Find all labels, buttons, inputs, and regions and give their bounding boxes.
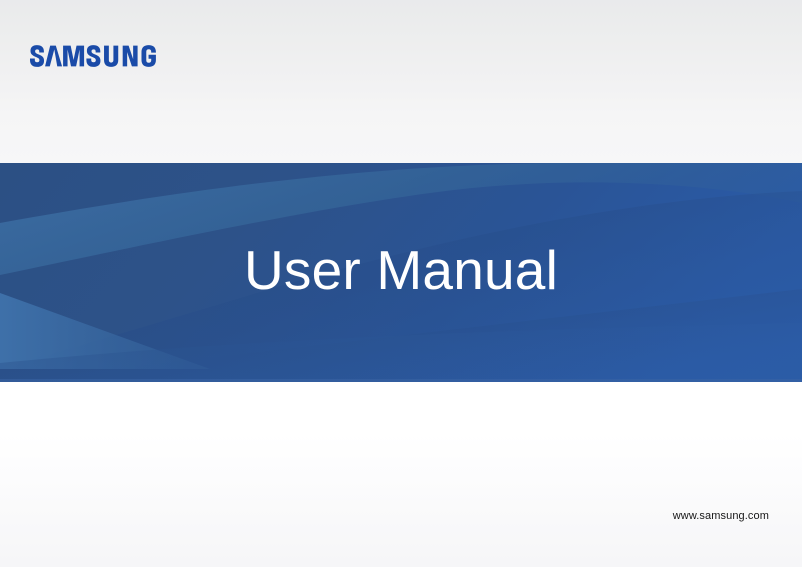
hero-banner: User Manual xyxy=(0,163,802,382)
footer-area xyxy=(0,382,802,567)
samsung-logo xyxy=(30,42,172,70)
header-band xyxy=(0,0,802,163)
page-title: User Manual xyxy=(0,163,802,382)
user-manual-cover-page: User Manual www.samsung.com xyxy=(0,0,802,567)
website-url[interactable]: www.samsung.com xyxy=(673,510,769,523)
